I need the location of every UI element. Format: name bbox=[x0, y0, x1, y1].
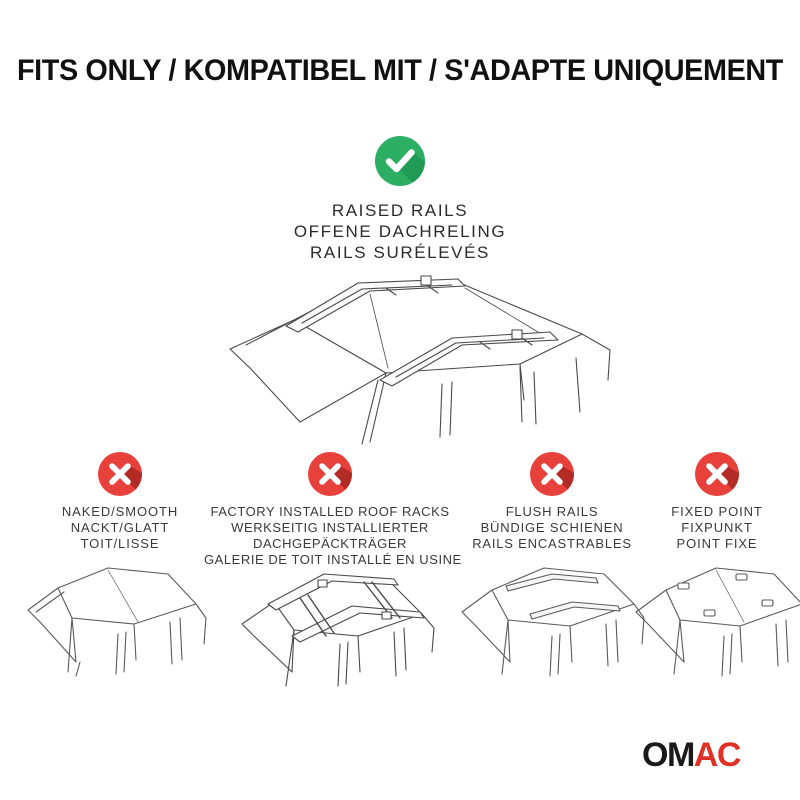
incompatible-label-en: FIXED POINT bbox=[634, 504, 800, 520]
incompatible-label-en: NAKED/SMOOTH bbox=[8, 504, 232, 520]
car-roof-fixed-point-diagram bbox=[622, 552, 800, 692]
incompatible-label-de: NACKT/GLATT bbox=[8, 520, 232, 536]
car-roof-factory-rack-diagram bbox=[222, 552, 446, 702]
red-x-circle-icon bbox=[98, 452, 142, 496]
incompatible-label-de: FIXPUNKT bbox=[634, 520, 800, 536]
page-title-text: FITS ONLY / KOMPATIBEL MIT / S'ADAPTE UN… bbox=[16, 54, 784, 88]
car-roof-naked-diagram bbox=[10, 552, 210, 692]
car-roof-raised-rails-diagram bbox=[190, 272, 620, 447]
incompatible-labels: NAKED/SMOOTH NACKT/GLATT TOIT/LISSE bbox=[8, 504, 232, 552]
incompatible-label-en: FLUSH RAILS bbox=[452, 504, 652, 520]
incompatible-labels: FLUSH RAILS BÜNDIGE SCHIENEN RAILS ENCAS… bbox=[452, 504, 652, 552]
incompatible-item-naked-smooth: NAKED/SMOOTH NACKT/GLATT TOIT/LISSE bbox=[8, 452, 232, 552]
incompatible-item-fixed-point: FIXED POINT FIXPUNKT POINT FIXE bbox=[634, 452, 800, 552]
compatible-label-fr: RAILS SURÉLEVÉS bbox=[0, 242, 800, 263]
brand-name-part2: AC bbox=[694, 736, 740, 774]
incompatible-labels: FIXED POINT FIXPUNKT POINT FIXE bbox=[634, 504, 800, 552]
red-x-circle-icon bbox=[695, 452, 739, 496]
compatible-section: RAISED RAILS OFFENE DACHRELING RAILS SUR… bbox=[0, 136, 800, 263]
compatible-label-en: RAISED RAILS bbox=[0, 200, 800, 221]
red-x-circle-icon bbox=[530, 452, 574, 496]
incompatible-label-de: WERKSEITIG INSTALLIERTER bbox=[204, 520, 456, 536]
incompatible-label-de: BÜNDIGE SCHIENEN bbox=[452, 520, 652, 536]
brand-name-part1: OM bbox=[642, 736, 694, 774]
incompatible-label-fr: RAILS ENCASTRABLES bbox=[452, 536, 652, 552]
incompatible-label-de2: DACHGEPÄCKTRÄGER bbox=[204, 536, 456, 552]
incompatible-label-fr: TOIT/LISSE bbox=[8, 536, 232, 552]
compatible-label-de: OFFENE DACHRELING bbox=[0, 221, 800, 242]
incompatible-item-flush-rails: FLUSH RAILS BÜNDIGE SCHIENEN RAILS ENCAS… bbox=[452, 452, 652, 552]
incompatible-label-en: FACTORY INSTALLED ROOF RACKS bbox=[204, 504, 456, 520]
compatible-labels: RAISED RAILS OFFENE DACHRELING RAILS SUR… bbox=[0, 200, 800, 263]
car-roof-flush-rails-diagram bbox=[446, 552, 646, 692]
incompatible-section: NAKED/SMOOTH NACKT/GLATT TOIT/LISSE FACT… bbox=[0, 452, 800, 562]
page-title: FITS ONLY / KOMPATIBEL MIT / S'ADAPTE UN… bbox=[0, 54, 800, 88]
incompatible-item-factory-roof-racks: FACTORY INSTALLED ROOF RACKS WERKSEITIG … bbox=[204, 452, 456, 568]
brand-logo: OMAC bbox=[642, 738, 766, 772]
red-x-circle-icon bbox=[308, 452, 352, 496]
incompatible-illustrations bbox=[0, 552, 800, 712]
incompatible-label-fr: POINT FIXE bbox=[634, 536, 800, 552]
green-check-circle-icon bbox=[375, 136, 425, 186]
